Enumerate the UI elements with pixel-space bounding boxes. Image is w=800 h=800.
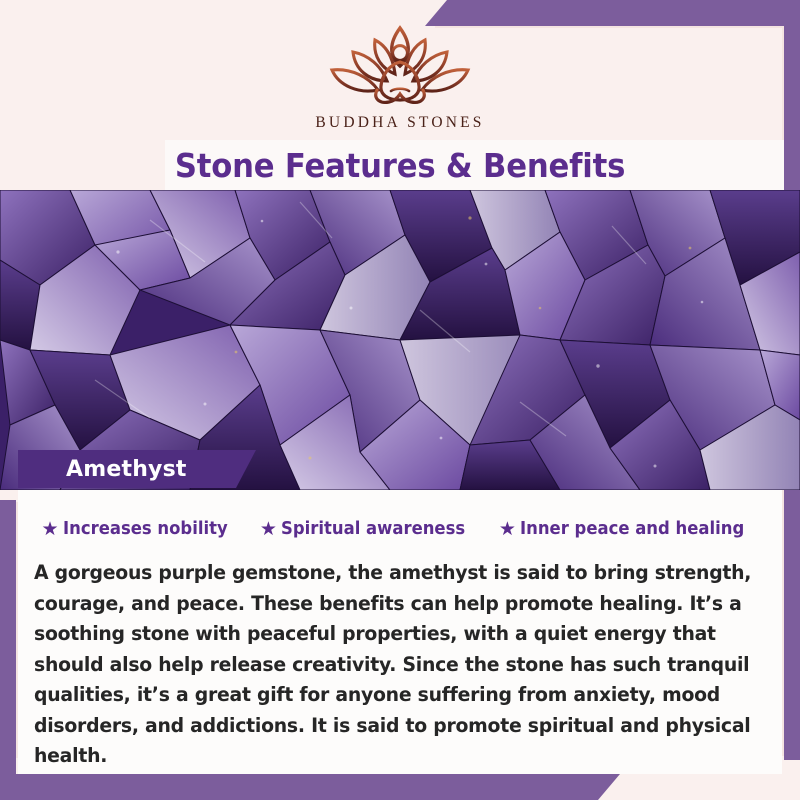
page-title: Stone Features & Benefits <box>28 140 772 190</box>
benefit-item-0: ★ Increases nobility <box>42 519 238 539</box>
benefit-label: Increases nobility <box>63 519 228 539</box>
stone-description: A gorgeous purple gemstone, the amethyst… <box>34 558 757 772</box>
star-icon: ★ <box>499 520 516 539</box>
benefit-item-2: ★ Inner peace and healing <box>499 519 759 539</box>
amethyst-crystal-cluster-photo <box>0 190 800 490</box>
benefit-label: Inner peace and healing <box>520 519 744 539</box>
benefit-item-1: ★ Spiritual awareness <box>260 519 477 539</box>
benefit-label: Spiritual awareness <box>281 519 465 539</box>
stone-name-label: Amethyst <box>66 457 187 482</box>
lotus-meditation-figure-icon <box>315 18 485 110</box>
decorative-band-left <box>0 500 16 800</box>
star-icon: ★ <box>260 520 277 539</box>
star-icon: ★ <box>42 520 59 539</box>
brand-name: BUDDHA STONES <box>315 114 484 132</box>
stone-name-banner: Amethyst <box>18 450 256 488</box>
decorative-band-bottom <box>0 774 620 800</box>
brand-logo: BUDDHA STONES <box>0 18 800 132</box>
benefits-list: ★ Increases nobility ★ Spiritual awarene… <box>0 519 800 539</box>
infographic-page: BUDDHA STONES Stone Features & Benefits <box>0 0 800 800</box>
